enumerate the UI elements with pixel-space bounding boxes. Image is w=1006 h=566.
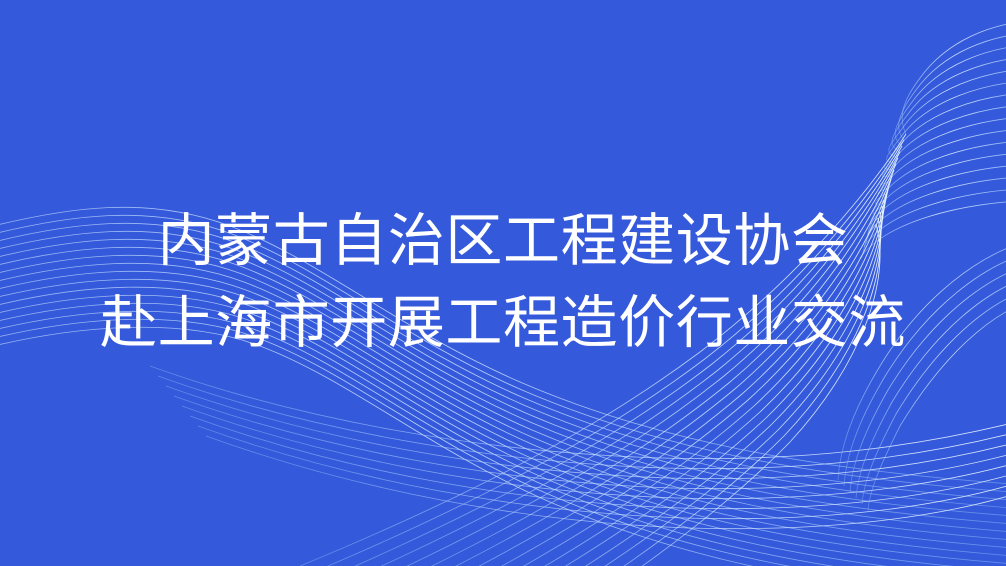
title-line-2: 赴上海市开展工程造价行业交流	[100, 294, 906, 354]
title-line-1: 内蒙古自治区工程建设协会	[158, 212, 849, 272]
title-block: 内蒙古自治区工程建设协会 赴上海市开展工程造价行业交流	[0, 0, 1006, 566]
slide-canvas: 内蒙古自治区工程建设协会 赴上海市开展工程造价行业交流	[0, 0, 1006, 566]
